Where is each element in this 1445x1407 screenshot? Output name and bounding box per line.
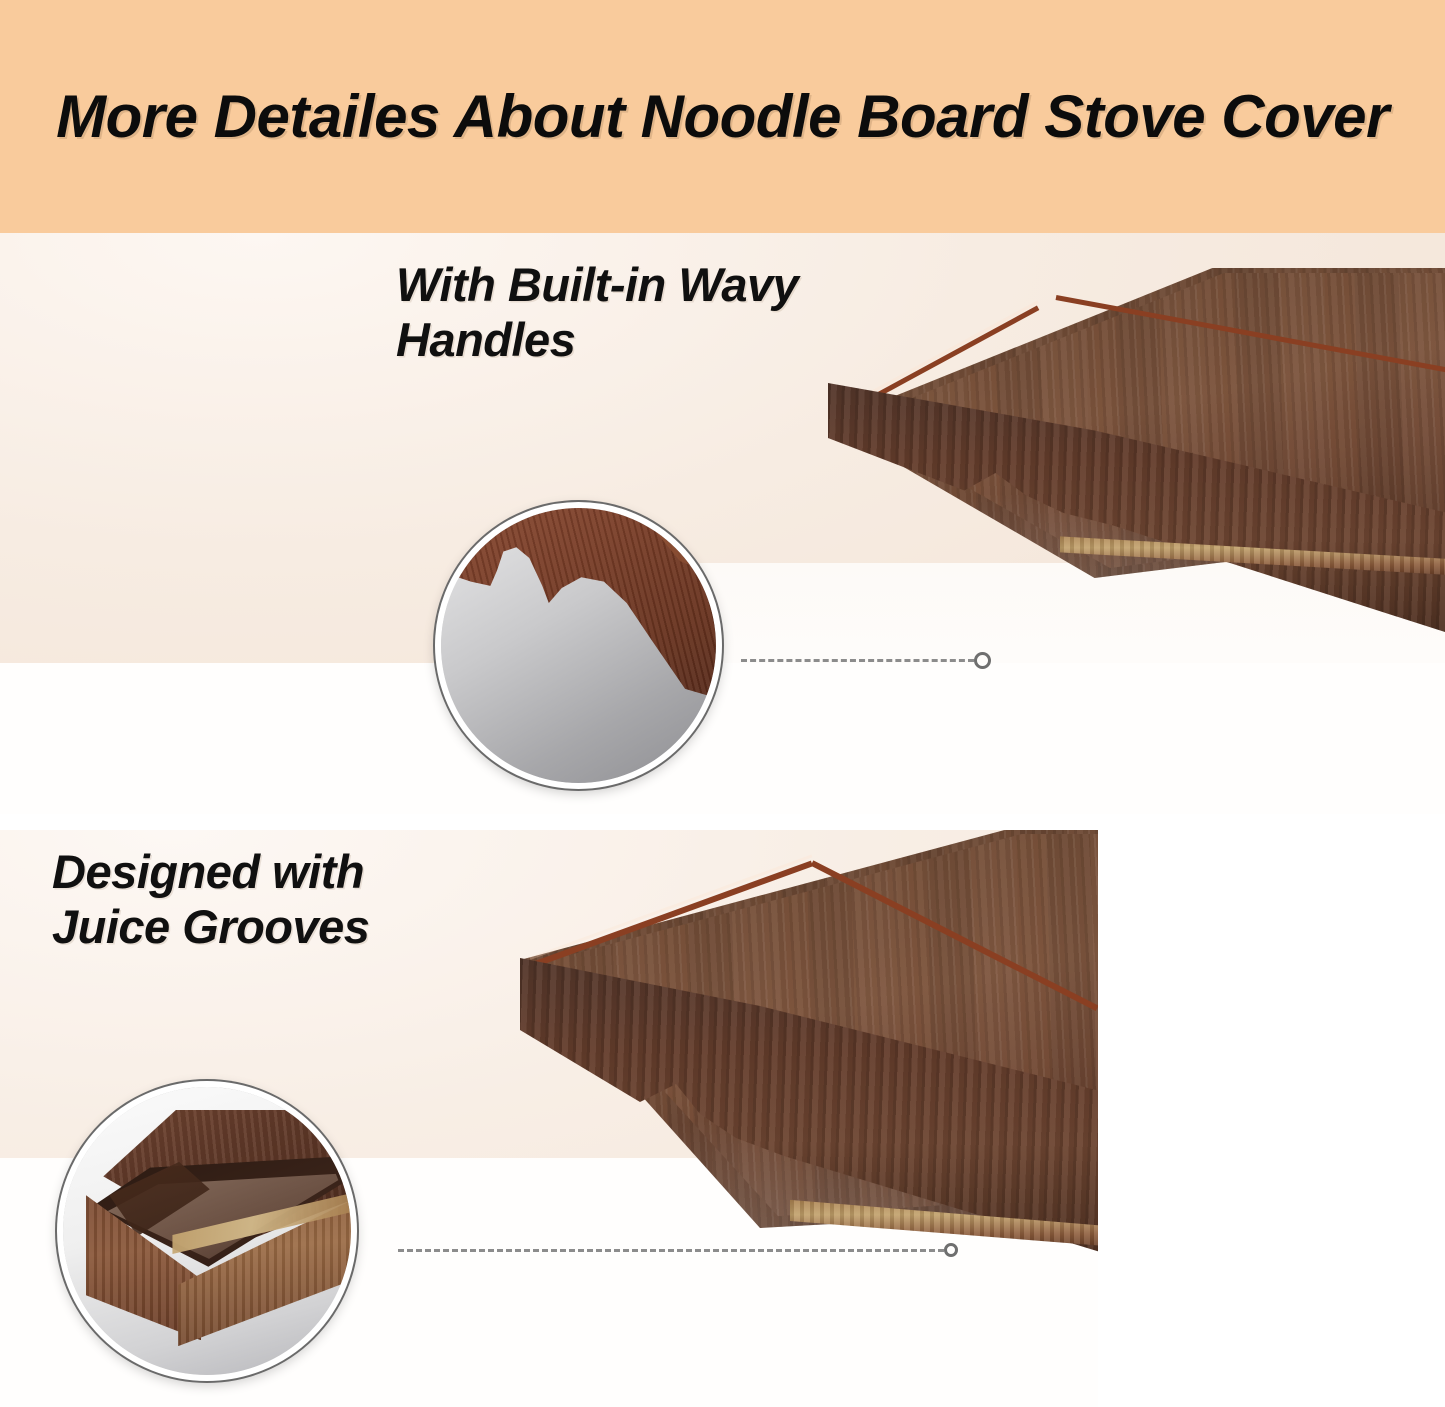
heading-juice-grooves-line1: Designed with bbox=[52, 845, 612, 900]
header-banner: More Detailes About Noodle Board Stove C… bbox=[0, 0, 1445, 233]
panel-divider bbox=[0, 814, 1445, 830]
heading-wavy-handles: With Built-in Wavy Handles bbox=[396, 258, 1016, 368]
heading-juice-grooves: Designed with Juice Grooves bbox=[52, 845, 612, 955]
connector-marker-juice-groove bbox=[944, 1243, 958, 1257]
detail-circle-wavy-handle[interactable] bbox=[435, 502, 722, 789]
photo-backdrop-bottom-right bbox=[1098, 828, 1445, 1407]
heading-wavy-handles-line1: With Built-in Wavy bbox=[396, 258, 1016, 313]
detail-circle-juice-groove-image bbox=[63, 1087, 351, 1375]
connector-juice-groove bbox=[398, 1243, 958, 1257]
connector-wavy-handle bbox=[741, 652, 991, 669]
heading-wavy-handles-line2: Handles bbox=[396, 313, 1016, 368]
connector-line-wavy-handle bbox=[741, 659, 974, 662]
connector-line-juice-groove bbox=[398, 1249, 944, 1252]
detail-circle-juice-groove[interactable] bbox=[57, 1081, 357, 1381]
page-title: More Detailes About Noodle Board Stove C… bbox=[56, 82, 1389, 151]
connector-marker-wavy-handle bbox=[974, 652, 991, 669]
detail-circle-wavy-handle-image bbox=[441, 508, 716, 783]
heading-juice-grooves-line2: Juice Grooves bbox=[52, 900, 612, 955]
